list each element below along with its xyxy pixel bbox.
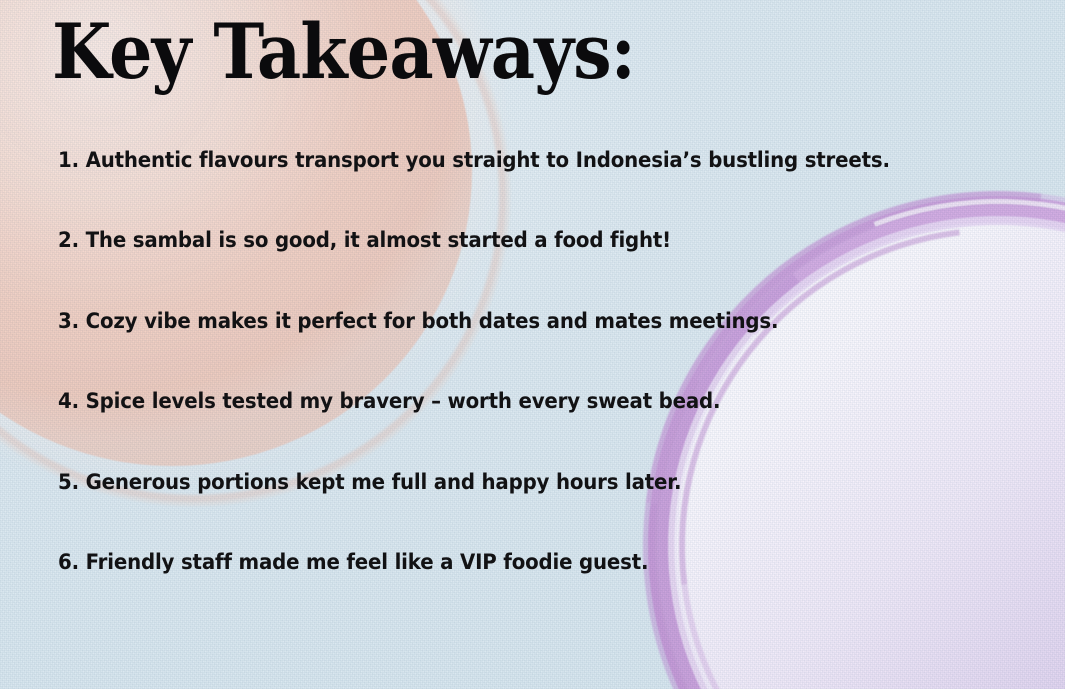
content-layer: Key Takeaways: 1. Authentic flavours tra… xyxy=(0,0,1065,689)
list-item: 5. Generous portions kept me full and ha… xyxy=(58,472,948,552)
list-item: 4. Spice levels tested my bravery – wort… xyxy=(58,391,948,471)
list-item: 3. Cozy vibe makes it perfect for both d… xyxy=(58,311,948,391)
key-takeaways-graphic: Key Takeaways: 1. Authentic flavours tra… xyxy=(0,0,1065,689)
list-item: 1. Authentic flavours transport you stra… xyxy=(58,150,948,230)
list-item: 6. Friendly staff made me feel like a VI… xyxy=(58,552,948,632)
page-title: Key Takeaways: xyxy=(52,14,635,90)
takeaway-list: 1. Authentic flavours transport you stra… xyxy=(58,150,1025,632)
list-item: 2. The sambal is so good, it almost star… xyxy=(58,230,948,310)
